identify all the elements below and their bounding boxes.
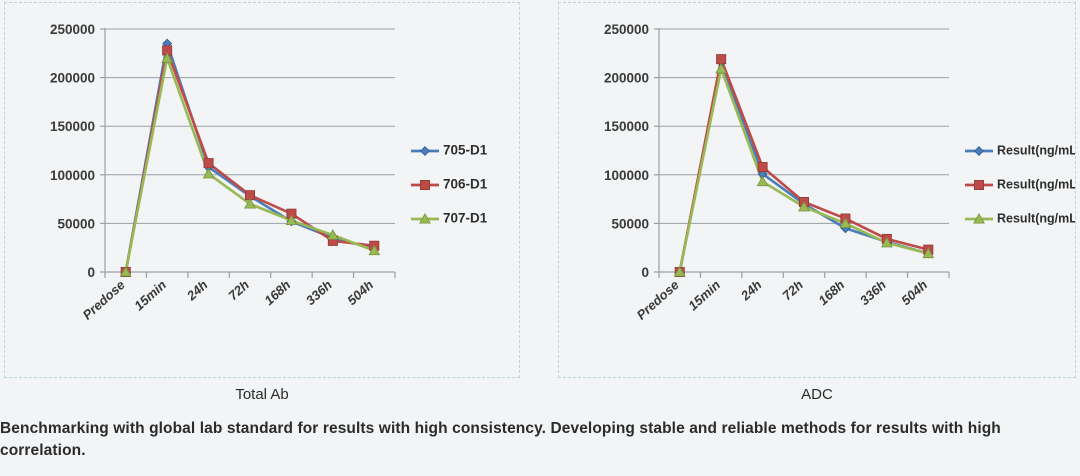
charts-container: 050000100000150000200000250000Predose15m… [0, 0, 1080, 382]
total-ab-chart: 050000100000150000200000250000Predose15m… [5, 3, 519, 377]
adc-chart: 050000100000150000200000250000Predose15m… [559, 3, 1075, 377]
x-tick-label: 336h [303, 277, 335, 308]
x-tick-label: 336h [857, 277, 889, 308]
x-tick-label: 168h [261, 277, 293, 308]
legend-item-1[interactable]: 706-D1 [411, 177, 488, 192]
marker-square [758, 162, 767, 171]
x-tick-label: Predose [80, 277, 128, 322]
x-tick-label: 504h [344, 277, 376, 308]
x-tick-label: 15min [131, 277, 169, 313]
y-axis: 050000100000150000200000250000 [50, 22, 105, 280]
y-tick-label: 0 [87, 265, 95, 280]
legend: 705-D1706-D1707-D1 [411, 143, 488, 226]
chart-caption-total-ab: Total Ab [4, 386, 520, 403]
legend-item-0[interactable]: 705-D1 [411, 143, 488, 158]
legend-label: 705-D1 [443, 143, 488, 158]
marker-diamond [421, 147, 430, 156]
y-axis: 050000100000150000200000250000 [604, 22, 659, 280]
screenshot-root: 050000100000150000200000250000Predose15m… [0, 0, 1080, 476]
y-tick-label: 150000 [604, 119, 649, 134]
x-tick-label: 15min [685, 277, 723, 313]
y-tick-label: 50000 [57, 216, 95, 231]
y-tick-label: 50000 [611, 216, 649, 231]
x-tick-label: 504h [898, 277, 930, 308]
x-tick-label: 24h [183, 277, 210, 304]
x-tick-label: 72h [779, 277, 806, 303]
legend-label: Result(ng/mL) [997, 143, 1075, 157]
legend-label: Result(ng/mL) [997, 211, 1075, 225]
x-axis: Predose15min24h72h168h336h504h [634, 272, 949, 323]
chart-caption-adc: ADC [558, 386, 1076, 403]
y-tick-label: 250000 [50, 22, 95, 37]
y-tick-label: 150000 [50, 119, 95, 134]
marker-square [204, 159, 213, 168]
marker-diamond [975, 147, 984, 156]
legend-item-1[interactable]: Result(ng/mL) [965, 177, 1075, 191]
legend-item-2[interactable]: 707-D1 [411, 211, 488, 226]
y-tick-label: 0 [641, 265, 649, 280]
x-tick-label: 24h [737, 277, 764, 304]
x-axis: Predose15min24h72h168h336h504h [80, 272, 395, 323]
y-tick-label: 200000 [50, 71, 95, 86]
x-tick-label: Predose [634, 277, 682, 322]
legend-label: 706-D1 [443, 177, 488, 192]
y-tick-label: 100000 [50, 168, 95, 183]
chart-panel-total-ab: 050000100000150000200000250000Predose15m… [4, 2, 520, 378]
legend-item-0[interactable]: Result(ng/mL) [965, 143, 1075, 157]
y-tick-label: 250000 [604, 22, 649, 37]
legend-label: 707-D1 [443, 211, 488, 226]
x-tick-label: 72h [225, 277, 252, 303]
y-tick-label: 200000 [604, 71, 649, 86]
series-group [675, 55, 934, 277]
marker-square [420, 180, 429, 189]
legend-label: Result(ng/mL) [997, 177, 1075, 191]
legend-item-2[interactable]: Result(ng/mL) [965, 211, 1075, 225]
marker-square [717, 55, 726, 64]
legend: Result(ng/mL)Result(ng/mL)Result(ng/mL) [965, 143, 1075, 225]
series-group [121, 39, 380, 276]
y-tick-label: 100000 [604, 168, 649, 183]
chart-panel-adc: 050000100000150000200000250000Predose15m… [558, 2, 1076, 378]
marker-square [974, 180, 983, 189]
footer-note: Benchmarking with global lab standard fo… [0, 418, 1080, 463]
x-tick-label: 168h [815, 277, 847, 308]
